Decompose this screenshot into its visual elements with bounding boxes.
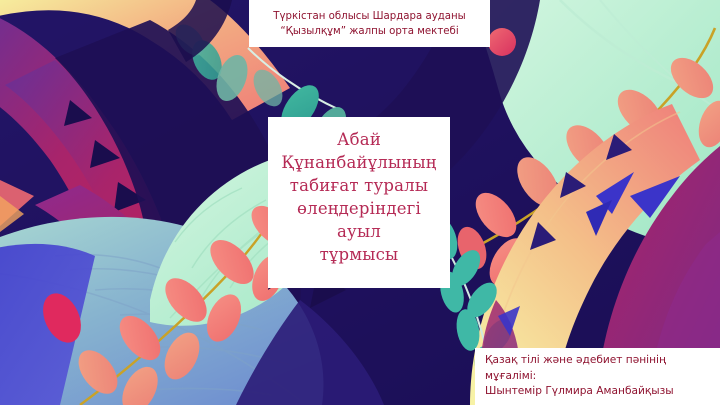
school-header-panel: Түркістан облысы Шардара ауданы “Қызылқұ… — [249, 0, 490, 47]
main-title-line-4: өлеңдеріндегі ауыл — [274, 197, 444, 243]
teacher-credit-line-2: мұғалімі: — [485, 369, 536, 385]
main-title-panel: Абай Құнанбайұлының табиғат туралы өлеңд… — [268, 117, 450, 288]
main-title-line-3: табиғат туралы — [290, 174, 428, 197]
school-header-line-1: Түркістан облысы Шардара ауданы — [273, 9, 465, 24]
teacher-credit-panel: Қазақ тілі және әдебиет пәнінің мұғалімі… — [475, 348, 720, 405]
teacher-credit-line-1: Қазақ тілі және әдебиет пәнінің — [485, 353, 666, 369]
slide-canvas: Түркістан облысы Шардара ауданы “Қызылқұ… — [0, 0, 720, 405]
main-title-line-2: Құнанбайұлының — [281, 151, 436, 174]
teacher-credit-line-3: Шынтемір Гүлмира Аманбайқызы — [485, 384, 674, 400]
school-header-line-2: “Қызылқұм” жалпы орта мектебі — [280, 24, 458, 39]
main-title-line-1: Абай — [337, 128, 381, 151]
pink-dot-top — [488, 28, 516, 56]
main-title-line-5: тұрмысы — [320, 243, 399, 266]
